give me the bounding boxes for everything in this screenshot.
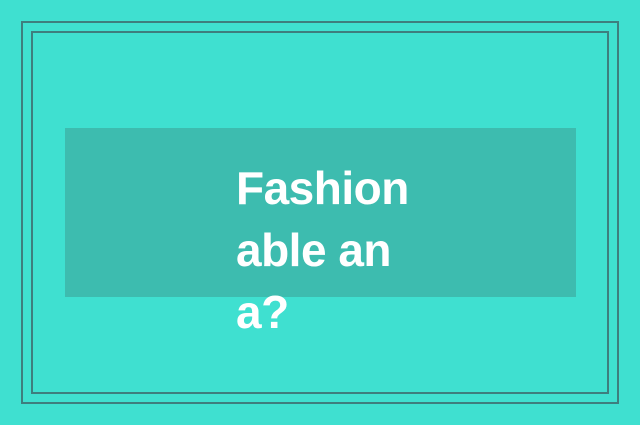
poster-canvas: Fashionable ana? <box>0 0 640 425</box>
headline-text: Fashionable ana? <box>236 157 416 343</box>
